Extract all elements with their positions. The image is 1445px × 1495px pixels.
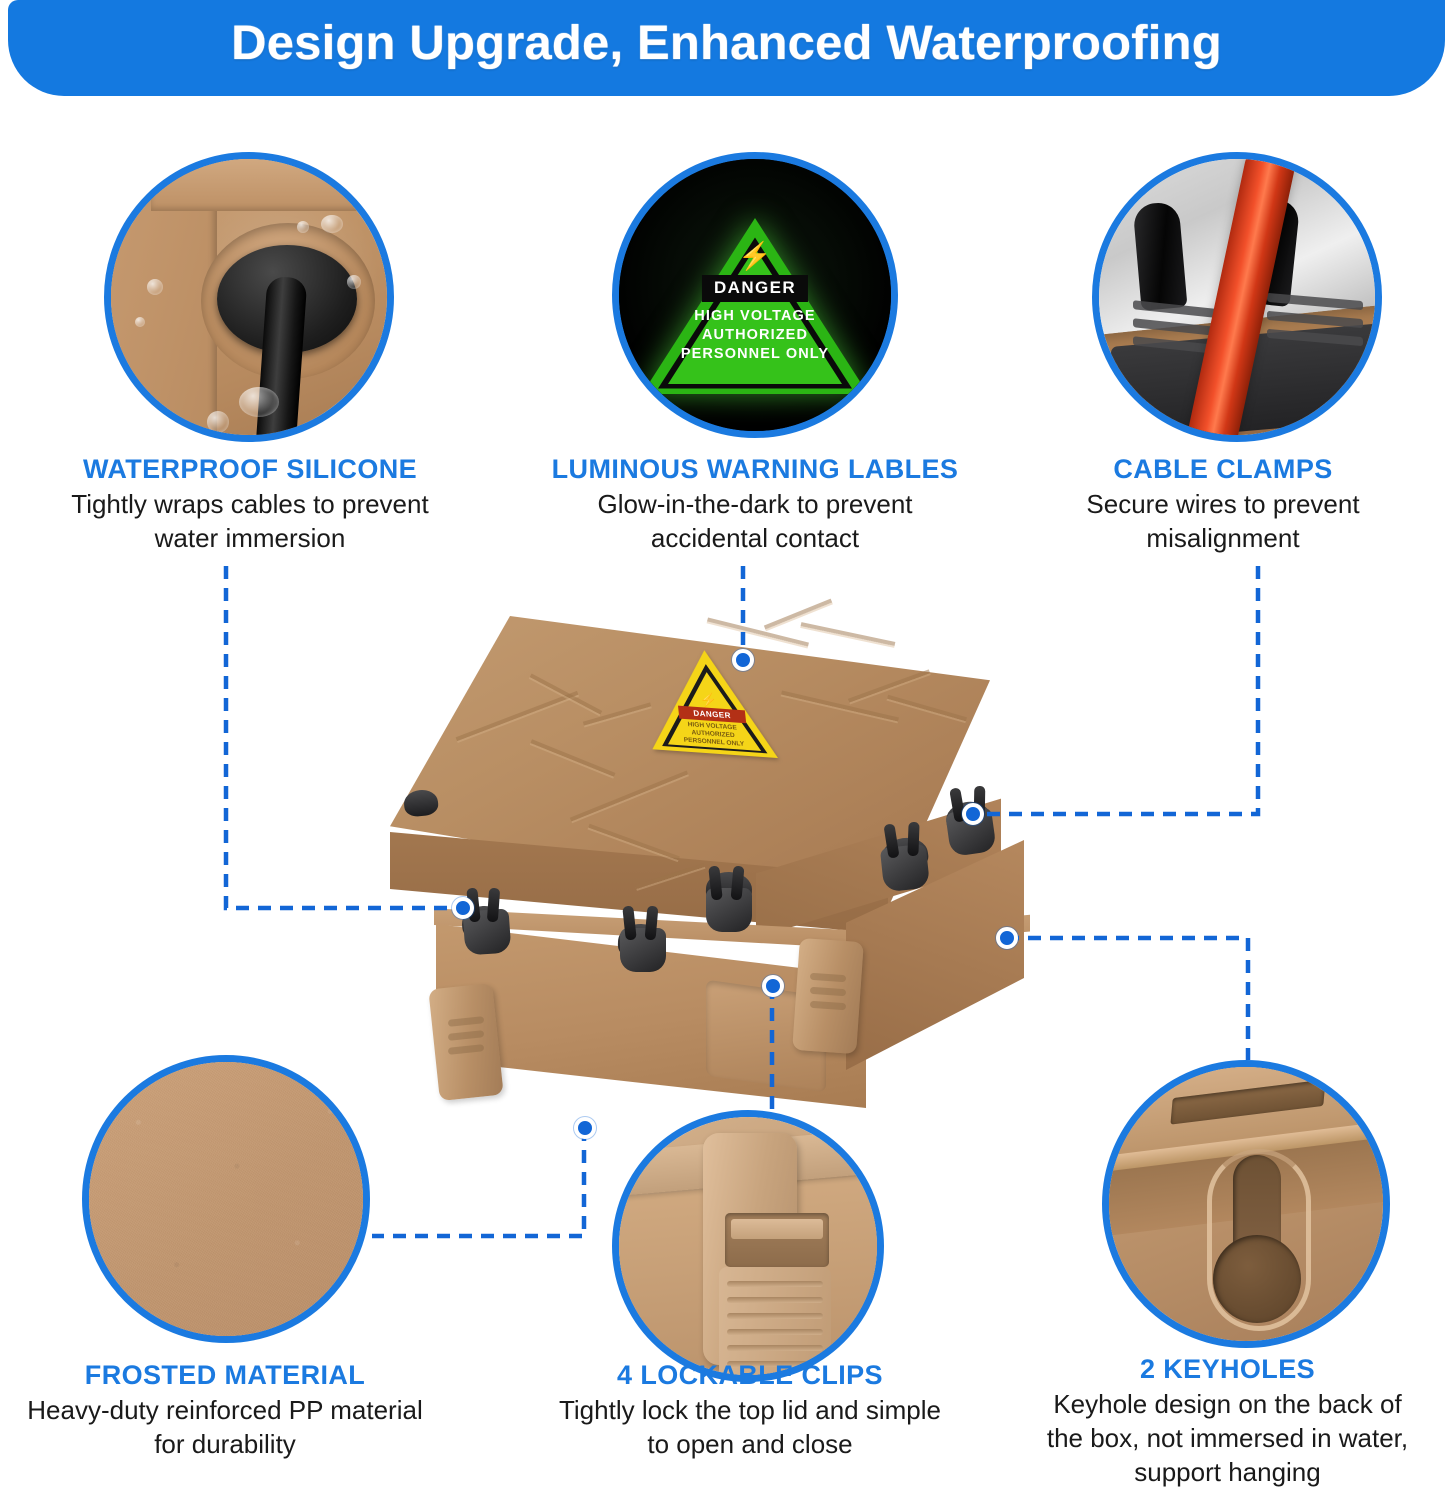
feature-title-keyholes: 2 KEYHOLES — [1010, 1352, 1445, 1386]
caption-cable-clamps: CABLE CLAMPS Secure wires to prevent mis… — [1008, 452, 1438, 554]
feature-image-cable-clamps — [1092, 152, 1382, 442]
product-danger-sticker: ⚡ DANGER HIGH VOLTAGE AUTHORIZED PERSONN… — [642, 646, 781, 762]
caption-keyholes: 2 KEYHOLES Keyhole design on the back of… — [1010, 1352, 1445, 1488]
feature-desc-line-2: water immersion — [10, 522, 490, 554]
lightning-bolt-icon: ⚡ — [738, 243, 772, 270]
caption-frosted-material: FROSTED MATERIAL Heavy-duty reinforced P… — [0, 1358, 450, 1460]
caption-luminous-warning-lables: LUMINOUS WARNING LABLES Glow-in-the-dark… — [490, 452, 1020, 554]
latch-clip-icon — [619, 1117, 877, 1375]
product-latch — [792, 938, 864, 1054]
feature-desc-line-1: Tightly lock the top lid and simple — [490, 1394, 1010, 1426]
keyhole-slot-icon — [1109, 1067, 1383, 1341]
feature-desc-line-1: Heavy-duty reinforced PP material — [0, 1394, 450, 1426]
feature-image-lockable-clips — [612, 1110, 884, 1382]
product-latch — [428, 983, 503, 1101]
header-banner: Design Upgrade, Enhanced Waterproofing — [8, 0, 1445, 96]
caption-waterproof-silicone: WATERPROOF SILICONE Tightly wraps cables… — [10, 452, 490, 554]
feature-title-cable-clamps: CABLE CLAMPS — [1008, 452, 1438, 486]
feature-image-luminous-warning-lables: ⚡ DANGER HIGH VOLTAGE AUTHORIZED PERSONN… — [612, 152, 898, 438]
connector-dot-keyholes — [996, 927, 1018, 949]
feature-image-keyholes — [1102, 1060, 1390, 1348]
feature-image-frosted-material — [82, 1055, 370, 1343]
feature-desc-line-1: Tightly wraps cables to prevent — [10, 488, 490, 520]
connector-dot-waterproof-silicone — [452, 897, 474, 919]
danger-headline: DANGER — [702, 275, 808, 302]
feature-image-waterproof-silicone — [104, 152, 394, 442]
warning-line-1: HIGH VOLTAGE — [619, 307, 891, 326]
feature-desc-line-2: misalignment — [1008, 522, 1438, 554]
feature-title-lockable-clips: 4 LOCKABLE CLIPS — [490, 1358, 1010, 1392]
feature-title-frosted-material: FROSTED MATERIAL — [0, 1358, 450, 1392]
caption-lockable-clips: 4 LOCKABLE CLIPS Tightly lock the top li… — [490, 1358, 1010, 1460]
connector-dot-frosted-material — [574, 1117, 596, 1139]
product-image-junction-box: ⚡ DANGER HIGH VOLTAGE AUTHORIZED PERSONN… — [376, 588, 1066, 1148]
feature-title-luminous-warning-lables: LUMINOUS WARNING LABLES — [490, 452, 1020, 486]
page-title: Design Upgrade, Enhanced Waterproofing — [0, 0, 1445, 86]
feature-desc-line-2: to open and close — [490, 1428, 1010, 1460]
connector-dot-luminous-warning — [732, 649, 754, 671]
feature-desc-line-2: for durability — [0, 1428, 450, 1460]
feature-desc-line-2: the box, not immersed in water, — [1010, 1422, 1445, 1454]
connector-dot-cable-clamps — [962, 803, 984, 825]
cable-grommet-icon — [111, 159, 387, 435]
feature-desc-line-2: accidental contact — [490, 522, 1020, 554]
connector-dot-lockable-clips — [762, 975, 784, 997]
feature-desc-line-3: support hanging — [1010, 1456, 1445, 1488]
warning-line-3: PERSONNEL ONLY — [619, 345, 891, 364]
feature-desc-line-1: Keyhole design on the back of — [1010, 1388, 1445, 1420]
feature-desc-line-1: Secure wires to prevent — [1008, 488, 1438, 520]
feature-desc-line-1: Glow-in-the-dark to prevent — [490, 488, 1020, 520]
cable-clamp-icon — [1099, 159, 1375, 435]
frosted-surface-icon — [89, 1062, 363, 1336]
warning-line-2: AUTHORIZED — [619, 326, 891, 345]
glowing-danger-sign-icon: ⚡ DANGER HIGH VOLTAGE AUTHORIZED PERSONN… — [619, 159, 891, 431]
feature-title-waterproof-silicone: WATERPROOF SILICONE — [10, 452, 490, 486]
